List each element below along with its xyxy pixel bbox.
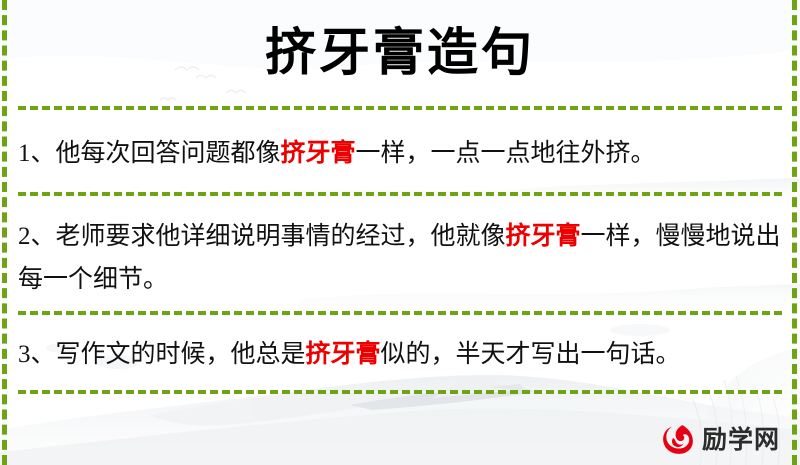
sentence-item-2: 2、老师要求他详细说明事情的经过，他就像挤牙膏一样，慢慢地说出每一个细节。 xyxy=(18,215,782,301)
sentence-3-keyword: 挤牙膏 xyxy=(306,341,381,368)
divider-3 xyxy=(18,311,782,315)
divider-4 xyxy=(18,390,782,394)
sentence-item-3: 3、写作文的时候，他总是挤牙膏似的，半天才写出一句话。 xyxy=(18,333,782,376)
content-area: 挤牙膏造句 1、他每次回答问题都像挤牙膏一样，一点一点地往外挤。 2、老师要求他… xyxy=(0,0,800,465)
slide-page: 挤牙膏造句 1、他每次回答问题都像挤牙膏一样，一点一点地往外挤。 2、老师要求他… xyxy=(0,0,800,465)
sentence-3-text-after: 似的，半天才写出一句话。 xyxy=(381,341,681,368)
sentence-2-keyword: 挤牙膏 xyxy=(506,223,581,250)
sentence-1-text-before: 1、他每次回答问题都像 xyxy=(18,140,281,167)
sentence-1-keyword: 挤牙膏 xyxy=(281,140,356,167)
sentence-1-text-after: 一样，一点一点地往外挤。 xyxy=(356,140,656,167)
sentence-item-1: 1、他每次回答问题都像挤牙膏一样，一点一点地往外挤。 xyxy=(18,132,782,175)
page-title: 挤牙膏造句 xyxy=(0,24,800,84)
sentence-2-text-before: 2、老师要求他详细说明事情的经过，他就像 xyxy=(18,223,506,250)
right-dashed-border xyxy=(792,0,797,465)
divider-1 xyxy=(18,106,782,110)
divider-2 xyxy=(18,192,782,196)
logo-text: 励学网 xyxy=(702,428,780,453)
flame-swirl-icon xyxy=(661,423,695,457)
sentence-3-text-before: 3、写作文的时候，他总是 xyxy=(18,341,306,368)
left-dashed-border xyxy=(2,0,7,465)
site-logo[interactable]: 励学网 xyxy=(661,423,780,457)
